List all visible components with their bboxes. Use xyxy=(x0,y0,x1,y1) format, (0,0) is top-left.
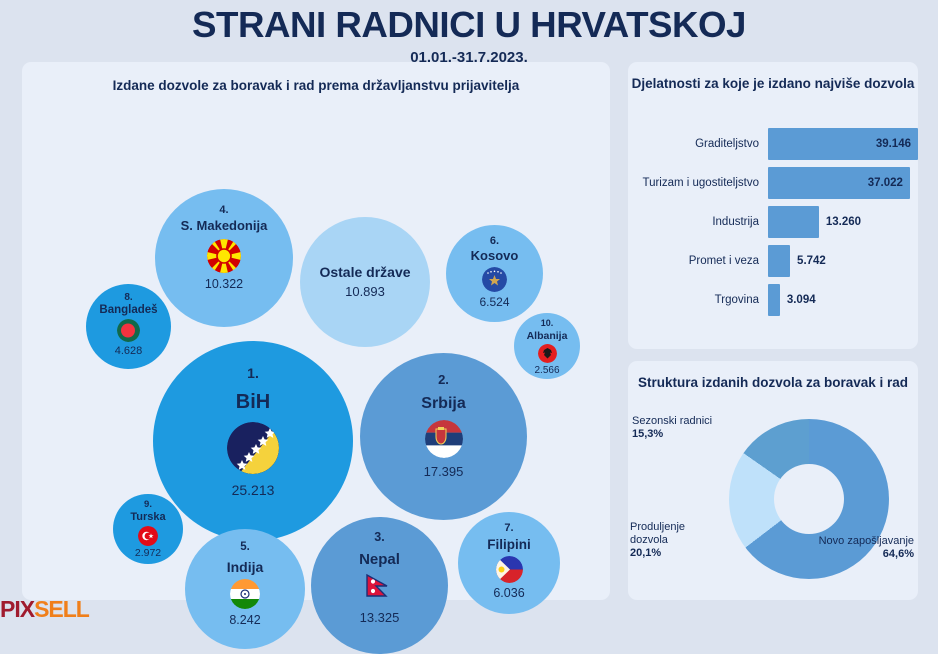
bar-label: Turizam i ugostiteljstvo xyxy=(628,177,768,189)
donut-label-value: 64,6% xyxy=(806,548,914,561)
bar-label: Promet i veza xyxy=(628,255,768,267)
bubble-rank: 6. xyxy=(490,235,499,247)
bubble-value: 8.242 xyxy=(229,614,260,628)
bubble-rank: 7. xyxy=(504,522,513,534)
donut-label-produljenje-dozvola: Produljenje dozvola 20,1% xyxy=(630,521,714,561)
bubble-value: 13.325 xyxy=(360,611,400,625)
page-header: STRANI RADNICI U HRVATSKOJ 01.01.-31.7.2… xyxy=(0,0,938,66)
donut-label-value: 20,1% xyxy=(630,547,714,560)
bubble-name: Bangladeš xyxy=(99,304,157,317)
donut-chart-panel: Struktura izdanih dozvola za boravak i r… xyxy=(628,361,918,600)
bubble-name: Nepal xyxy=(359,551,400,568)
bar-value: 37.022 xyxy=(868,177,903,189)
bubble-name: Srbija xyxy=(421,395,465,413)
bubble-name: Turska xyxy=(130,511,165,524)
donut-label-value: 15,3% xyxy=(632,428,712,441)
bubble-indija[interactable]: 5. Indija 8.242 xyxy=(185,529,305,649)
bubble-name: Ostale države xyxy=(319,264,410,280)
bubble-chart-panel: Izdane dozvole za boravak i rad prema dr… xyxy=(22,62,610,600)
bubble-rank: 1. xyxy=(247,366,259,381)
bar-value: 39.146 xyxy=(876,138,911,150)
bar-label: Industrija xyxy=(628,216,768,228)
bar-label: Graditeljstvo xyxy=(628,138,768,150)
bubble-rank: 3. xyxy=(374,531,384,545)
bar-track: 37.022 xyxy=(768,167,918,199)
page-title: STRANI RADNICI U HRVATSKOJ xyxy=(0,6,938,44)
bar-row[interactable]: Turizam i ugostiteljstvo 37.022 xyxy=(628,167,918,199)
xk-flag-icon xyxy=(482,267,507,292)
bubble-s-makedonija[interactable]: 4. S. Makedonija 10.3 xyxy=(155,189,293,327)
al-flag-icon xyxy=(538,344,557,363)
bar-chart-title: Djelatnosti za koje je izdano najviše do… xyxy=(628,62,918,93)
bubble-chart-area: 4. S. Makedonija 10.3 xyxy=(22,62,610,600)
bubble-value: 6.036 xyxy=(493,587,524,601)
bubble-value: 4.628 xyxy=(115,345,143,357)
bubble-bih[interactable]: 1. BiH xyxy=(153,341,353,541)
pixsell-logo: PIXSELL xyxy=(0,596,89,623)
bubble-banglades[interactable]: 8. Bangladeš 4.628 xyxy=(86,284,171,369)
donut-label-text: Sezonski radnici xyxy=(632,415,712,427)
donut-label-sezonski-radnici: Sezonski radnici 15,3% xyxy=(632,415,712,441)
bar-chart-panel: Djelatnosti za koje je izdano najviše do… xyxy=(628,62,918,349)
ba-flag-icon xyxy=(227,422,279,474)
bar-row[interactable]: Promet i veza 5.742 xyxy=(628,245,918,277)
donut-chart-area: Sezonski radnici 15,3% Produljenje dozvo… xyxy=(628,417,918,600)
bubble-name: S. Makedonija xyxy=(181,219,268,234)
bubble-srbija[interactable]: 2. Srbija 17.395 xyxy=(360,353,527,520)
bubble-name: BiH xyxy=(236,391,270,414)
ph-flag-icon xyxy=(496,556,523,583)
bubble-name: Kosovo xyxy=(471,249,519,264)
donut-hole xyxy=(774,464,844,534)
bar-chart-area: Graditeljstvo 39.146 Turizam i ugostitel… xyxy=(628,128,918,323)
bar-track: 39.146 xyxy=(768,128,918,160)
bubble-rank: 2. xyxy=(438,373,449,387)
donut-label-text: Novo zapošljavanje xyxy=(819,535,914,547)
bubble-ostale-drzave[interactable]: Ostale države 10.893 xyxy=(300,217,430,347)
bubble-value: 2.972 xyxy=(135,548,161,560)
bar-value: 3.094 xyxy=(787,294,816,306)
bar-row[interactable]: Graditeljstvo 39.146 xyxy=(628,128,918,160)
bubble-turska[interactable]: 9. Turska 2.972 xyxy=(113,494,183,564)
mk-flag-icon xyxy=(207,239,241,273)
tr-flag-icon xyxy=(138,526,158,546)
content-layout: Izdane dozvole za boravak i rad prema dr… xyxy=(0,62,938,607)
bubble-nepal[interactable]: 3. Nepal 13.325 xyxy=(311,517,448,654)
bubble-name: Filipini xyxy=(487,537,531,553)
bar-track: 5.742 xyxy=(768,245,918,277)
np-flag-icon xyxy=(363,572,397,606)
bubble-rank: 10. xyxy=(541,319,554,329)
bar-label: Trgovina xyxy=(628,294,768,306)
bar-turizam-i-ugostiteljstvo: 37.022 xyxy=(768,167,910,199)
bar-value: 13.260 xyxy=(826,216,861,228)
bubble-name: Indija xyxy=(227,559,264,575)
bubble-rank: 5. xyxy=(240,541,250,554)
bubble-kosovo[interactable]: 6. Kosovo 6.524 xyxy=(446,225,543,322)
rs-flag-icon xyxy=(425,420,463,458)
bar-value: 5.742 xyxy=(797,255,826,267)
donut-label-text: Produljenje dozvola xyxy=(630,521,685,546)
bubble-value: 10.893 xyxy=(345,285,385,299)
bubble-value: 10.322 xyxy=(205,278,243,292)
bubble-value: 17.395 xyxy=(424,465,464,479)
bubble-filipini[interactable]: 7. Filipini 6.036 xyxy=(458,512,560,614)
in-flag-icon xyxy=(230,579,260,609)
bubble-albanija[interactable]: 10. Albanija 2.566 xyxy=(514,313,580,379)
bar-promet-i-veza: 5.742 xyxy=(768,245,790,277)
bubble-value: 2.566 xyxy=(534,365,559,376)
bar-track: 13.260 xyxy=(768,206,918,238)
bar-track: 3.094 xyxy=(768,284,918,316)
bubble-rank: 8. xyxy=(124,292,132,303)
logo-part-sell: SELL xyxy=(34,596,89,622)
bar-industrija: 13.260 xyxy=(768,206,819,238)
bubble-rank: 4. xyxy=(219,204,228,216)
bd-flag-icon xyxy=(117,319,140,342)
bar-trgovina: 3.094 xyxy=(768,284,780,316)
donut-chart-title: Struktura izdanih dozvola za boravak i r… xyxy=(628,361,918,392)
bar-row[interactable]: Industrija 13.260 xyxy=(628,206,918,238)
bubble-value: 6.524 xyxy=(479,296,509,309)
donut-label-novo-zaposljavanje: Novo zapošljavanje 64,6% xyxy=(806,535,914,561)
bubble-rank: 9. xyxy=(144,500,152,510)
bubble-name: Albanija xyxy=(527,330,568,342)
bubble-value: 25.213 xyxy=(232,483,275,498)
logo-part-pix: PIX xyxy=(0,596,34,622)
bar-graditeljstvo: 39.146 xyxy=(768,128,918,160)
bar-row[interactable]: Trgovina 3.094 xyxy=(628,284,918,316)
